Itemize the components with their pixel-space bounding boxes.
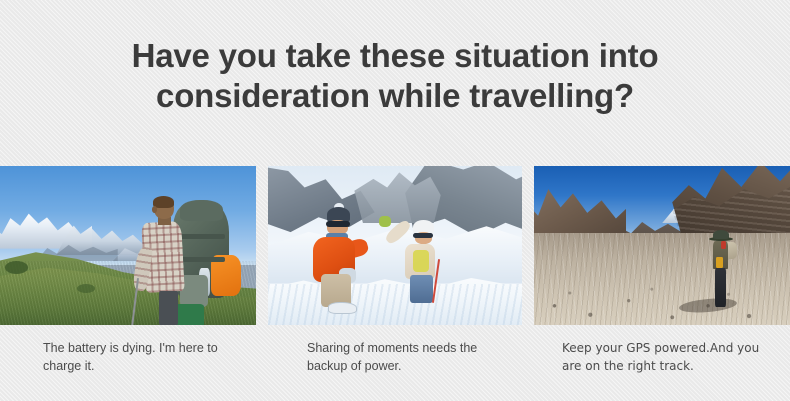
caption-text: Keep your GPS powered.And you are on the… <box>562 339 762 375</box>
leg <box>159 291 178 325</box>
jeans <box>410 275 433 303</box>
hat <box>713 230 729 239</box>
backpack-top <box>180 200 222 221</box>
snowshoer-orange <box>309 207 375 315</box>
backpack-pouch <box>180 275 208 306</box>
panel-gap <box>522 166 534 325</box>
trekker-figure <box>706 230 737 313</box>
page-title-line-1: Have you take these situation into <box>132 37 659 74</box>
caption-trekking: Keep your GPS powered.And you are on the… <box>534 325 790 401</box>
hiking-illustration <box>0 166 256 325</box>
bush <box>77 284 95 294</box>
hair <box>153 196 174 208</box>
trekking-pole <box>131 278 139 325</box>
yellow-scarf <box>413 250 429 272</box>
yellow-pouch <box>716 257 723 269</box>
snowshoer-cream <box>395 220 456 312</box>
snowshoe <box>328 302 357 314</box>
caption-snow: Sharing of moments needs the backup of p… <box>268 325 522 401</box>
panel-gap <box>256 166 268 325</box>
sunglasses <box>413 233 433 238</box>
caption-text: Sharing of moments needs the backup of p… <box>307 339 497 375</box>
caption-row: The battery is dying. I'm here to charge… <box>0 325 790 401</box>
trekking-illustration <box>534 166 790 325</box>
legs <box>715 268 726 308</box>
green-glove <box>379 216 391 227</box>
caption-hiking: The battery is dying. I'm here to charge… <box>0 325 256 401</box>
backpack-strap <box>176 234 225 239</box>
page-title-line-2: consideration while travelling? <box>0 76 790 116</box>
snow-illustration <box>268 166 522 325</box>
hiker-figure <box>133 195 251 325</box>
photo-snow <box>268 166 522 325</box>
photo-strip <box>0 166 790 325</box>
page-title: Have you take these situation into consi… <box>0 36 790 116</box>
caption-text: The battery is dying. I'm here to charge… <box>43 339 233 375</box>
scattered-rocks <box>534 261 790 325</box>
caption-gap <box>256 325 268 401</box>
photo-hiking <box>0 166 256 325</box>
photo-trekking <box>534 166 790 325</box>
sunglasses <box>326 221 350 226</box>
ear <box>152 206 157 213</box>
caption-gap <box>522 325 534 401</box>
